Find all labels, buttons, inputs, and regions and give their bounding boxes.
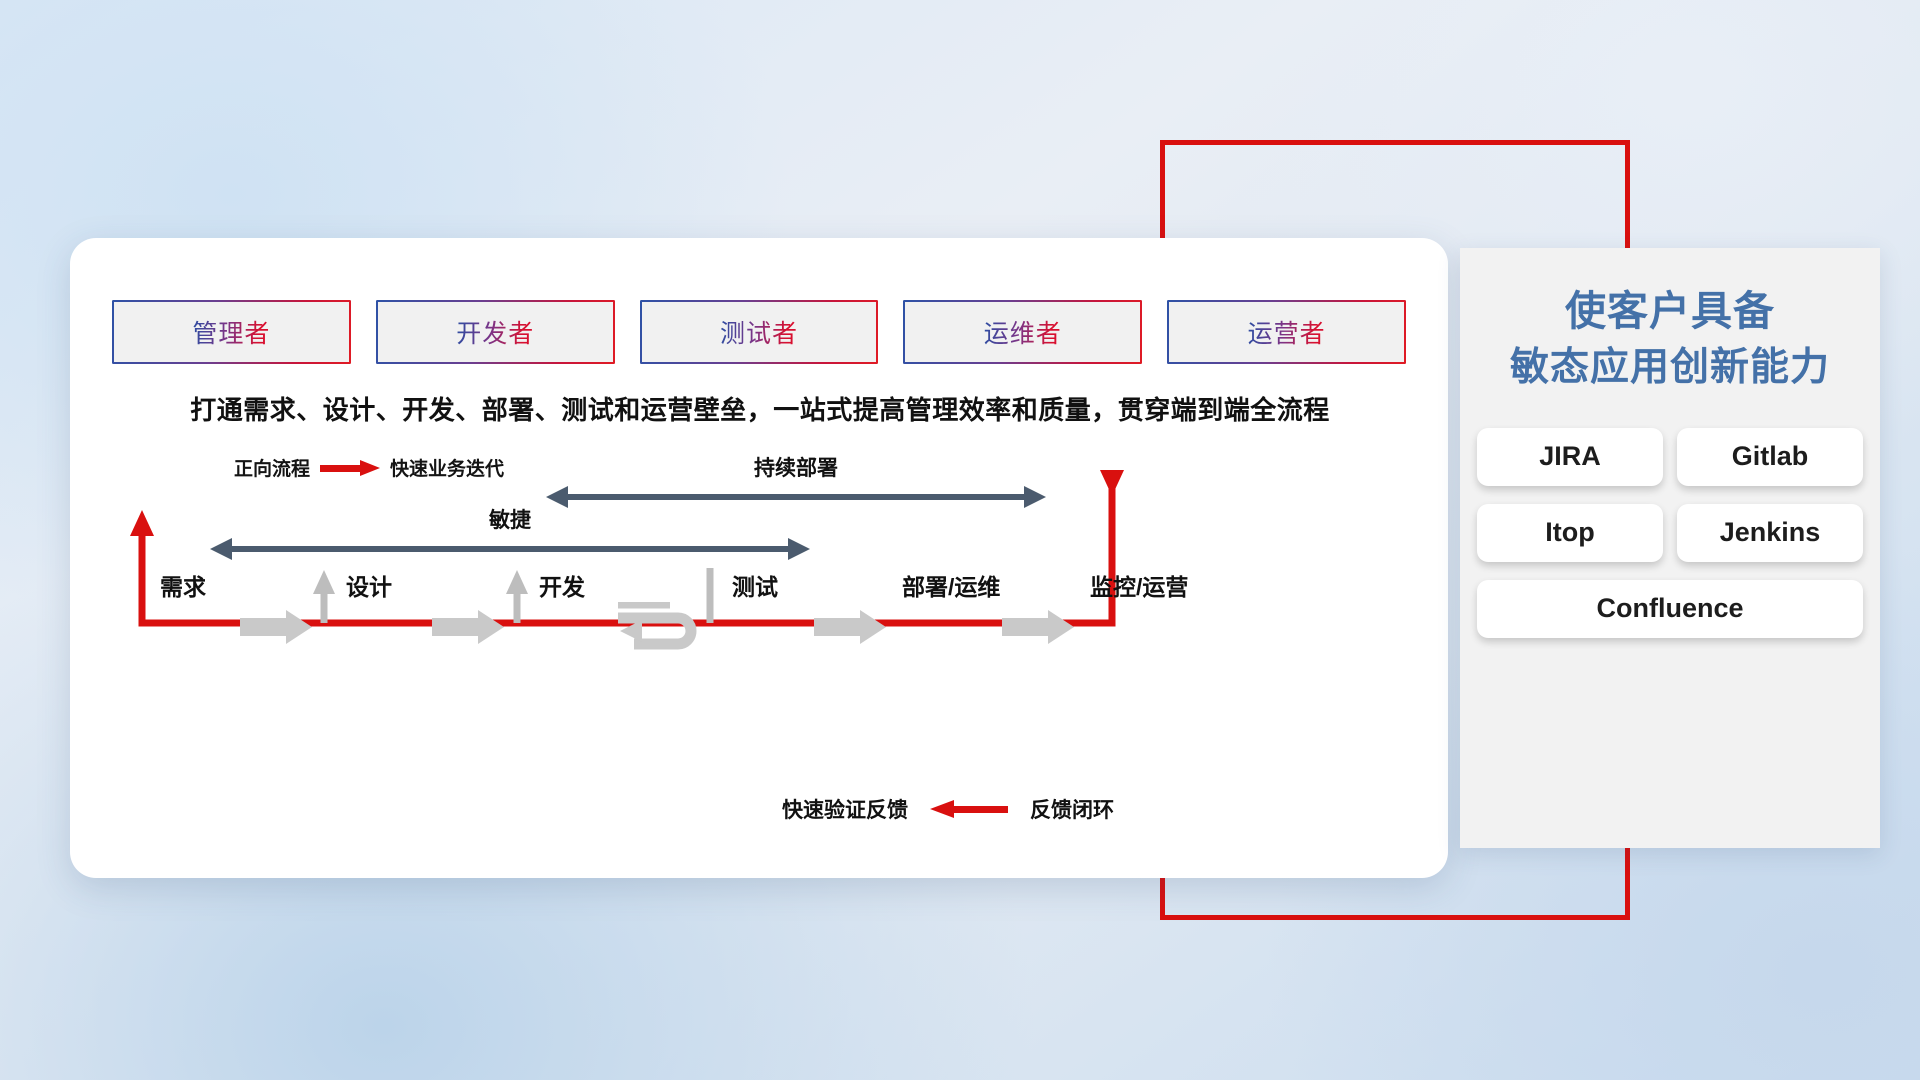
double-arrow-bar — [230, 546, 790, 552]
feedback-left-label: 快速验证反馈 — [782, 794, 908, 824]
panel-title: 使客户具备 敏态应用创新能力 — [1460, 248, 1880, 402]
slide-canvas: 管理者 开发者 测试者 运维者 运营者 打通需求、设计、开发、部署、测试和运营壁… — [0, 0, 1920, 1080]
forward-flow-right-label: 快速业务迭代 — [390, 454, 504, 481]
panel-title-line2: 敏态应用创新能力 — [1460, 340, 1880, 395]
node-label: 开发 — [517, 568, 607, 602]
node-label: 需求 — [138, 568, 228, 602]
arrow-right-gray-icon — [240, 610, 312, 644]
tool-tag-jira[interactable]: JIRA — [1477, 428, 1663, 486]
node-label: 监控/运营 — [1090, 568, 1180, 602]
role-label: 运营者 — [1248, 314, 1326, 350]
pipeline-node-requirement[interactable]: 需求 — [138, 568, 228, 608]
role-box-tester[interactable]: 测试者 — [640, 300, 879, 364]
pipeline-node-develop[interactable]: 开发 — [517, 568, 607, 608]
role-box-developer[interactable]: 开发者 — [376, 300, 615, 364]
role-label: 测试者 — [720, 314, 798, 350]
arrow-right-gray-icon — [432, 610, 504, 644]
role-box-operator[interactable]: 运营者 — [1167, 300, 1406, 364]
capability-panel: 使客户具备 敏态应用创新能力 JIRA Gitlab Itop Jenkins … — [1460, 248, 1880, 848]
pipeline-node-monitor-operate[interactable]: 监控/运营 — [1090, 568, 1180, 608]
node-label: 部署/运维 — [902, 568, 992, 602]
forward-flow-caption: 正向流程 快速业务迭代 — [234, 454, 504, 481]
agile-arrow: 敏捷 — [210, 538, 810, 560]
tool-tag-itop[interactable]: Itop — [1477, 504, 1663, 562]
tool-tag-grid: JIRA Gitlab Itop Jenkins Confluence — [1470, 428, 1870, 638]
role-box-ops[interactable]: 运维者 — [903, 300, 1142, 364]
bracket-bottom-edge — [1160, 915, 1630, 920]
feedback-caption: 快速验证反馈 反馈闭环 — [782, 794, 1114, 824]
arrow-left-red-icon — [930, 800, 1008, 818]
node-label: 测试 — [710, 568, 800, 602]
feedback-right-label: 反馈闭环 — [1030, 794, 1114, 824]
tool-tag-gitlab[interactable]: Gitlab — [1677, 428, 1863, 486]
agile-label: 敏捷 — [210, 504, 810, 534]
double-arrow-left-head — [210, 538, 232, 560]
main-content-card: 管理者 开发者 测试者 运维者 运营者 打通需求、设计、开发、部署、测试和运营壁… — [70, 238, 1448, 878]
bracket-left-stub-top — [1160, 140, 1165, 250]
forward-flow-left-label: 正向流程 — [234, 454, 310, 481]
role-label: 管理者 — [192, 314, 270, 350]
tool-tag-confluence[interactable]: Confluence — [1477, 580, 1863, 638]
arrow-right-gray-icon — [1002, 610, 1074, 644]
role-label: 开发者 — [456, 314, 534, 350]
description-text: 打通需求、设计、开发、部署、测试和运营壁垒，一站式提高管理效率和质量，贯穿端到端… — [110, 390, 1410, 427]
arrow-right-red-icon — [320, 460, 380, 476]
double-arrow-right-head — [1024, 486, 1046, 508]
role-box-row: 管理者 开发者 测试者 运维者 运营者 — [112, 300, 1406, 364]
pipeline-node-deploy-ops[interactable]: 部署/运维 — [902, 568, 992, 608]
pipeline-node-design[interactable]: 设计 — [324, 568, 414, 608]
double-arrow-right-head — [788, 538, 810, 560]
role-label: 运维者 — [984, 314, 1062, 350]
tool-tag-jenkins[interactable]: Jenkins — [1677, 504, 1863, 562]
double-arrow-bar — [566, 494, 1026, 500]
role-box-manager[interactable]: 管理者 — [112, 300, 351, 364]
arrow-right-gray-icon — [814, 610, 886, 644]
panel-title-line1: 使客户具备 — [1460, 282, 1880, 340]
pipeline-row: 需求 设计 开发 测试 部署/运维 监控/运营 — [112, 568, 1406, 698]
node-label: 设计 — [324, 568, 414, 602]
bracket-top-edge — [1160, 140, 1630, 145]
pipeline-node-test[interactable]: 测试 — [710, 568, 800, 608]
loop-back-gray-icon — [612, 602, 708, 660]
continuous-deployment-label: 持续部署 — [546, 452, 1046, 482]
